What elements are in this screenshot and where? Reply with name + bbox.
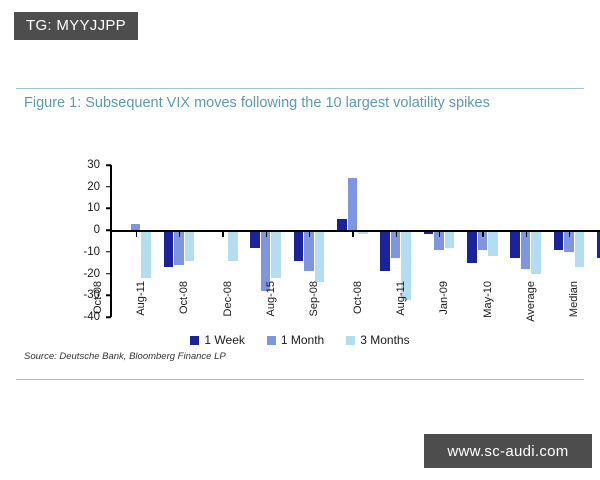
y-axis-tick-mark <box>106 251 111 253</box>
bar-1-week[interactable] <box>164 230 174 267</box>
bar-3-months[interactable] <box>315 230 325 282</box>
chart-legend: 1 Week1 Month3 Months <box>16 333 584 347</box>
y-axis-tick-label: -10 <box>83 246 100 258</box>
bar-1-week[interactable] <box>250 230 260 247</box>
y-axis-tick-label: 20 <box>87 181 100 193</box>
y-axis-tick-label: 10 <box>87 202 100 214</box>
legend-swatch-icon <box>267 336 276 345</box>
x-axis-tick-label: Oct-08 <box>92 281 104 314</box>
bar-3-months[interactable] <box>271 230 281 278</box>
figure-panel: Figure 1: Subsequent VIX moves following… <box>16 88 584 380</box>
bar-1-week[interactable] <box>554 230 564 250</box>
y-axis-tick-mark <box>106 229 111 231</box>
y-axis-tick-label: 30 <box>87 159 100 171</box>
bottom-watermark-text: www.sc-audi.com <box>447 443 568 460</box>
legend-item[interactable]: 1 Month <box>267 333 324 347</box>
x-axis-tick-mark <box>569 232 570 237</box>
x-axis-tick-label: Median <box>568 281 580 317</box>
bottom-watermark-badge: www.sc-audi.com <box>424 434 592 468</box>
bar-3-months[interactable] <box>185 230 195 260</box>
y-axis-tick-mark <box>106 164 111 166</box>
bar-1-month[interactable] <box>131 224 141 231</box>
x-axis-tick-mark <box>179 232 180 237</box>
x-axis-tick-label: Aug-11 <box>135 281 147 316</box>
legend-swatch-icon <box>190 336 199 345</box>
top-watermark-text: TG: MYYJJPP <box>26 17 126 34</box>
bar-1-week[interactable] <box>294 230 304 260</box>
bar-1-month[interactable] <box>348 178 358 230</box>
x-axis-tick-label: Jan-09 <box>438 281 450 315</box>
bar-3-months[interactable] <box>531 230 541 273</box>
legend-item[interactable]: 1 Week <box>190 333 244 347</box>
x-axis-tick-mark <box>136 232 137 237</box>
bar-1-week[interactable] <box>380 230 390 271</box>
legend-label: 3 Months <box>360 333 409 347</box>
y-axis-tick-label: 0 <box>94 224 100 236</box>
x-axis-tick-mark <box>526 232 527 237</box>
x-axis-tick-mark <box>352 232 353 237</box>
x-axis-tick-label: May-10 <box>482 281 494 318</box>
y-axis-tick-mark <box>106 273 111 275</box>
bar-3-months[interactable] <box>488 230 498 256</box>
y-axis-tick-mark <box>106 208 111 210</box>
x-axis-tick-mark <box>309 232 310 237</box>
x-axis-tick-mark <box>396 232 397 237</box>
source-divider <box>16 374 584 380</box>
x-axis-tick-mark <box>222 232 223 237</box>
x-axis-tick-label: Aug-11 <box>395 281 407 316</box>
x-axis-tick-mark <box>439 232 440 237</box>
x-axis-tick-mark <box>482 232 483 237</box>
legend-item[interactable]: 3 Months <box>346 333 409 347</box>
y-axis-tick-mark <box>106 186 111 188</box>
bar-3-months[interactable] <box>141 230 151 278</box>
legend-label: 1 Month <box>281 333 324 347</box>
top-watermark-badge: TG: MYYJJPP <box>14 12 138 40</box>
figure-title: Figure 1: Subsequent VIX moves following… <box>24 95 490 111</box>
bar-3-months[interactable] <box>445 230 455 247</box>
bar-1-week[interactable] <box>467 230 477 263</box>
legend-label: 1 Week <box>204 333 244 347</box>
x-axis-tick-label: Oct-08 <box>178 281 190 314</box>
bar-1-week[interactable] <box>510 230 520 258</box>
legend-swatch-icon <box>346 336 355 345</box>
x-axis-tick-label: Sep-08 <box>308 281 320 316</box>
bar-3-months[interactable] <box>575 230 585 267</box>
chart-plot-area: 3020100-10-20-30-40 <box>64 131 578 271</box>
x-axis-tick-label: Aug-15 <box>265 281 277 316</box>
source-note: Source: Deutsche Bank, Bloomberg Finance… <box>24 351 226 362</box>
bar-1-week[interactable] <box>337 219 347 230</box>
x-axis-tick-mark <box>266 232 267 237</box>
x-axis-tick-label: Dec-08 <box>222 281 234 316</box>
x-axis-labels: Oct-08Aug-11Oct-08Dec-08Aug-15Sep-08Oct-… <box>64 277 584 339</box>
bar-3-months[interactable] <box>228 230 238 260</box>
x-axis-tick-label: Average <box>525 281 537 322</box>
x-axis-tick-label: Oct-08 <box>352 281 364 314</box>
